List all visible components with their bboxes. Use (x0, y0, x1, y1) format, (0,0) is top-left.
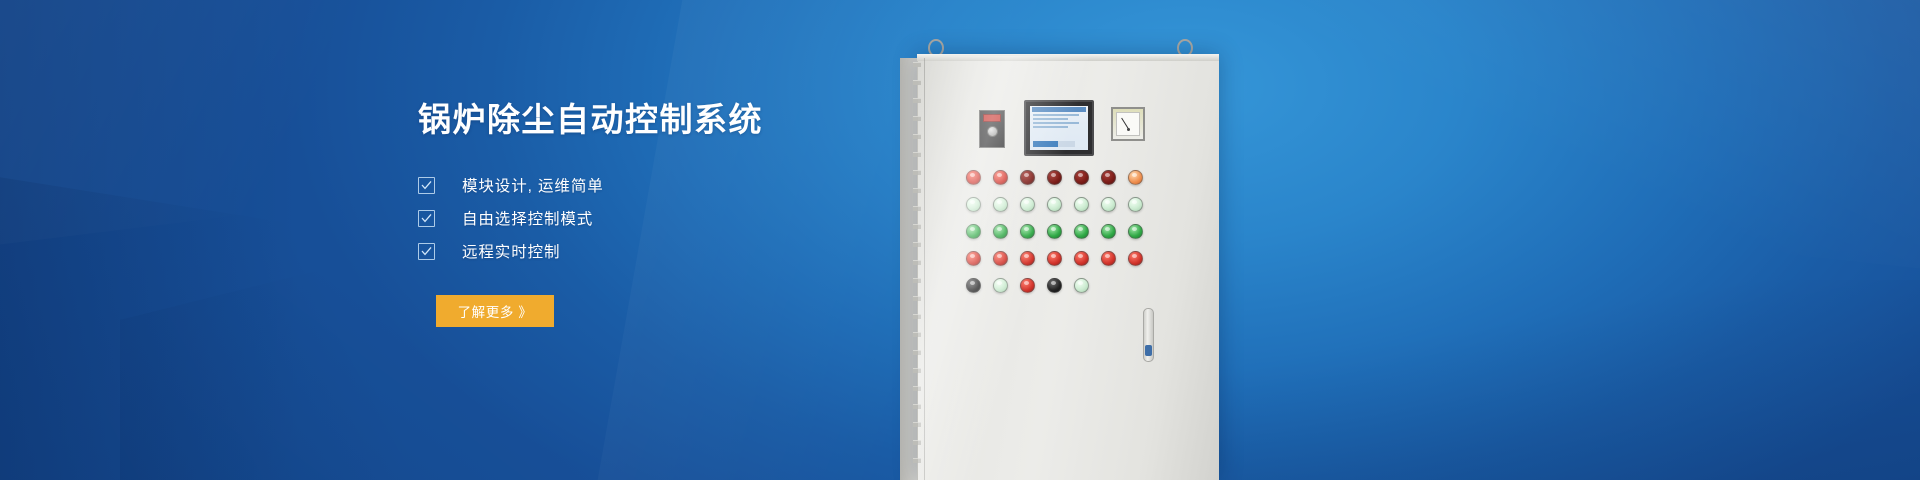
learn-more-label: 了解更多 》 (458, 301, 533, 321)
hmi-touchscreen (1024, 100, 1094, 156)
indicator-lamp-red[interactable] (966, 170, 981, 185)
hmi-titlebar (1032, 107, 1086, 112)
indicator-lamp-white[interactable] (993, 278, 1008, 293)
indicator-lamp-green[interactable] (993, 224, 1008, 239)
indicator-lamp-white[interactable] (1128, 197, 1143, 212)
indicator-lamp-red[interactable] (1074, 251, 1089, 266)
control-cabinet-image (900, 0, 1320, 480)
meter-knob-icon (987, 126, 998, 137)
indicator-lamp-green[interactable] (1047, 224, 1062, 239)
hmi-text-line (1033, 114, 1079, 116)
hero-text-block: 锅炉除尘自动控制系统 模块设计, 运维简单 自由选择控制模式 (418, 100, 938, 327)
lamp-row (966, 278, 1156, 293)
indicator-lamp-black[interactable] (966, 278, 981, 293)
background-facet (0, 0, 300, 480)
feature-list: 模块设计, 运维简单 自由选择控制模式 远程实时控制 (418, 169, 938, 268)
indicator-lamp-red[interactable] (1020, 251, 1035, 266)
gauge-pivot (1127, 128, 1130, 131)
indicator-lamp-green[interactable] (966, 224, 981, 239)
feature-label: 远程实时控制 (462, 240, 560, 262)
indicator-lamp-red[interactable] (993, 251, 1008, 266)
digital-meter (979, 110, 1005, 148)
indicator-lamp-white[interactable] (966, 197, 981, 212)
lamp-row (966, 170, 1156, 185)
indicator-lamp-darkred[interactable] (1101, 170, 1116, 185)
feature-label: 模块设计, 运维简单 (462, 174, 604, 196)
page-title: 锅炉除尘自动控制系统 (418, 100, 938, 140)
indicator-lamp-red[interactable] (1101, 251, 1116, 266)
hmi-progress-bar (1033, 141, 1075, 147)
checkbox-checked-icon (418, 210, 435, 227)
hmi-text-line (1033, 122, 1079, 124)
indicator-lamp-red[interactable] (1047, 251, 1062, 266)
indicator-lamp-red[interactable] (993, 170, 1008, 185)
door-lock-icon[interactable] (1145, 345, 1152, 356)
indicator-lamp-green[interactable] (1074, 224, 1089, 239)
indicator-lamp-black[interactable] (1047, 278, 1062, 293)
indicator-lamp-darkred[interactable] (1074, 170, 1089, 185)
indicator-lamp-orange[interactable] (1128, 170, 1143, 185)
hmi-text-line (1033, 118, 1068, 120)
lamp-row (966, 251, 1156, 266)
learn-more-button[interactable]: 了解更多 》 (436, 295, 554, 327)
indicator-lamp-red[interactable] (966, 251, 981, 266)
cabinet-top-edge (917, 54, 1219, 61)
indicator-lamp-white[interactable] (993, 197, 1008, 212)
background-facet (1300, 0, 1920, 277)
lamp-slot-empty (1128, 278, 1143, 293)
lamp-row (966, 224, 1156, 239)
hmi-text-line (1033, 126, 1068, 128)
digital-readout (983, 114, 1001, 122)
indicator-lamp-white[interactable] (1101, 197, 1116, 212)
analog-gauge (1111, 107, 1145, 141)
list-item: 远程实时控制 (418, 235, 938, 268)
hero-banner: 锅炉除尘自动控制系统 模块设计, 运维简单 自由选择控制模式 (0, 0, 1920, 480)
lamp-slot-empty (1101, 278, 1116, 293)
feature-label: 自由选择控制模式 (462, 207, 593, 229)
indicator-lamp-white[interactable] (1020, 197, 1035, 212)
indicator-lamp-darkred[interactable] (1047, 170, 1062, 185)
hmi-screen-content (1030, 106, 1088, 150)
checkbox-checked-icon (418, 243, 435, 260)
indicator-lamp-white[interactable] (1074, 278, 1089, 293)
lamp-row (966, 197, 1156, 212)
indicator-lamp-green[interactable] (1128, 224, 1143, 239)
indicator-lamp-grid (966, 170, 1156, 305)
gauge-face (1116, 112, 1140, 136)
indicator-lamp-green[interactable] (1101, 224, 1116, 239)
indicator-lamp-darkred[interactable] (1020, 170, 1035, 185)
list-item: 模块设计, 运维简单 (418, 169, 938, 202)
indicator-lamp-red[interactable] (1128, 251, 1143, 266)
background-facet (0, 0, 460, 252)
indicator-lamp-white[interactable] (1074, 197, 1089, 212)
list-item: 自由选择控制模式 (418, 202, 938, 235)
checkbox-checked-icon (418, 177, 435, 194)
indicator-lamp-red[interactable] (1020, 278, 1035, 293)
indicator-lamp-white[interactable] (1047, 197, 1062, 212)
indicator-lamp-green[interactable] (1020, 224, 1035, 239)
